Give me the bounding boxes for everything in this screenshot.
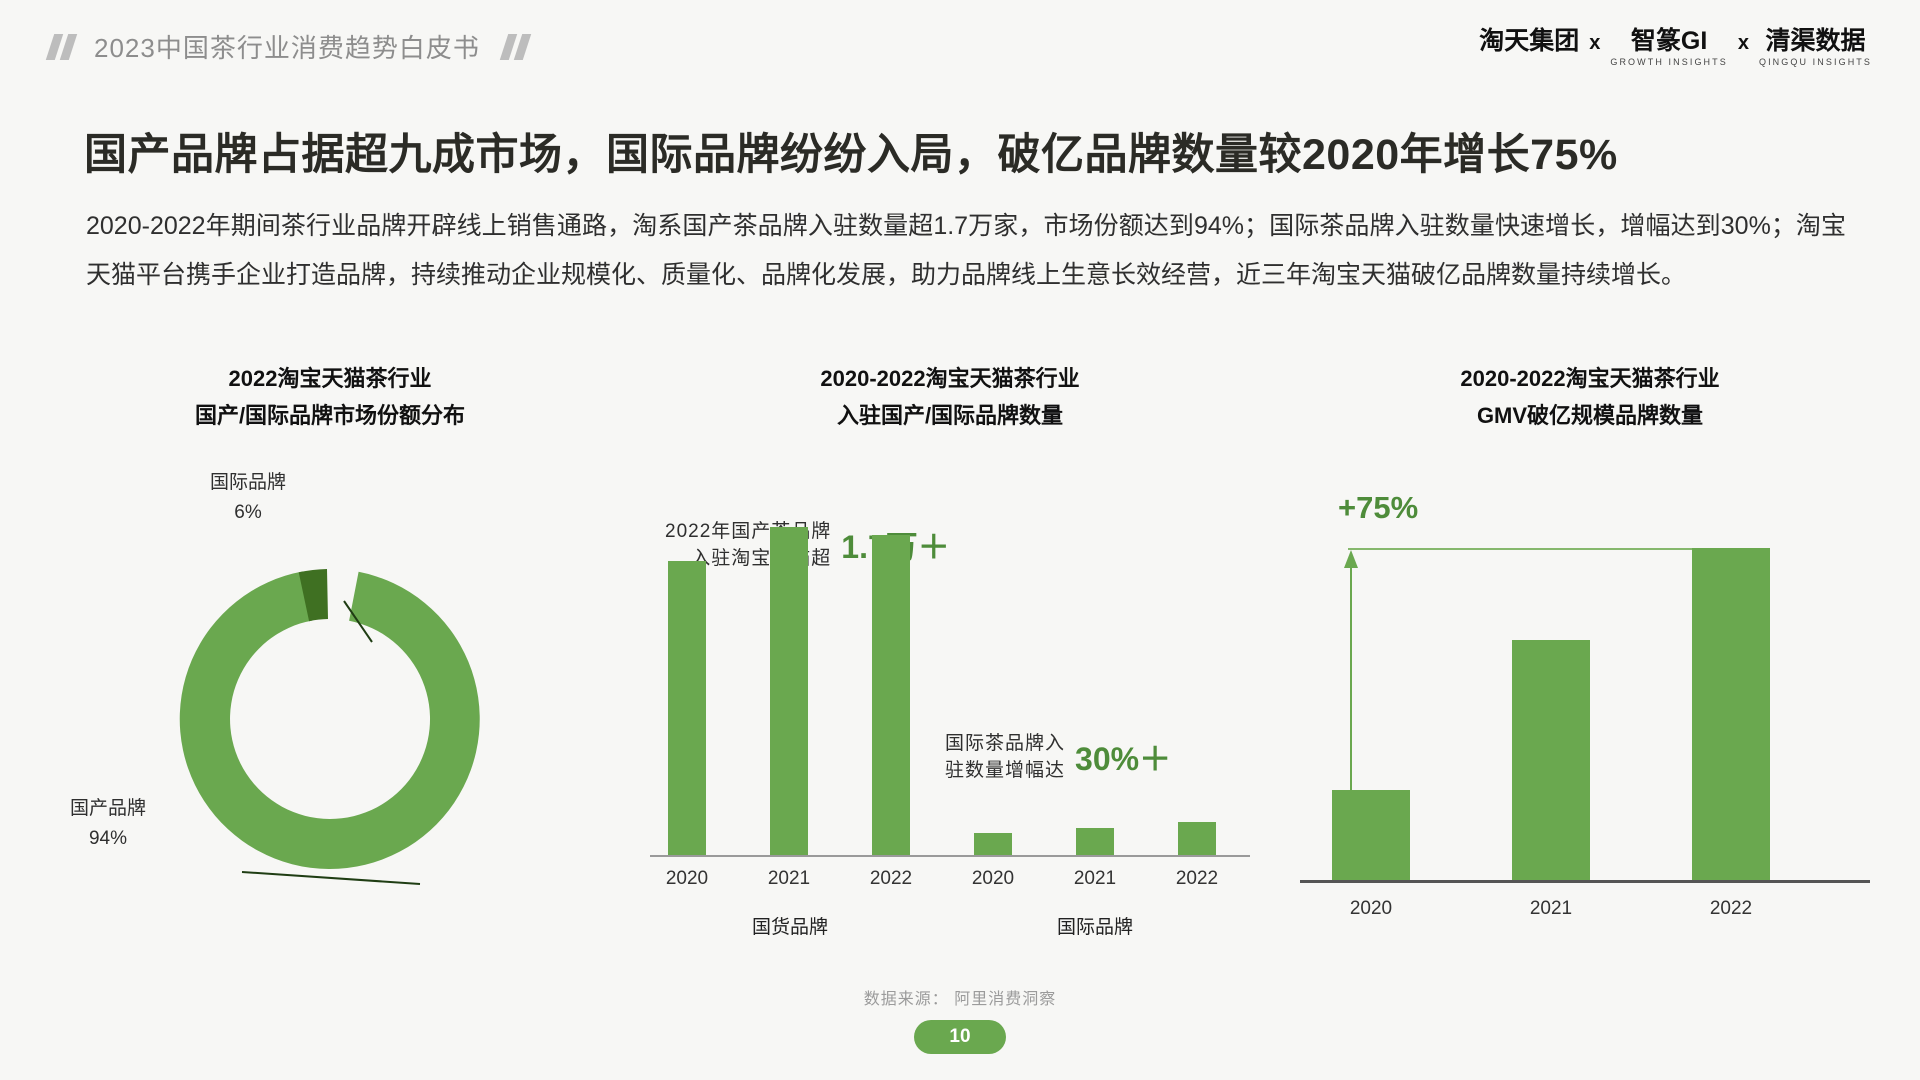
double-slash-left-icon (50, 34, 80, 60)
chart2-title-line1: 2020-2022淘宝天猫茶行业 (640, 360, 1260, 397)
double-slash-right-icon (504, 34, 534, 60)
donut-label-domestic-text: 国产品牌 (70, 794, 146, 824)
logo-gi-en: GROWTH INSIGHTS (1610, 57, 1728, 67)
group-label-international: 国际品牌 (1005, 912, 1185, 939)
page-number-badge: 10 (914, 1020, 1006, 1054)
xtick-international-2022: 2022 (1157, 868, 1237, 890)
donut-label-domestic-value: 94% (70, 824, 146, 854)
bar-domestic-2022 (872, 535, 910, 855)
bar-chart-brand-count: 2022年国产茶品牌 入驻淘宝天猫超 1.7万＋ 国际茶品牌入 驻数量增幅达 3… (640, 460, 1260, 950)
growth-label-75: +75% (1338, 490, 1418, 526)
bar-chart-gmv: +75% 2020 2021 2022 (1290, 460, 1890, 960)
xtick-domestic-2021: 2021 (749, 868, 829, 890)
bar-chart-3-baseline (1300, 880, 1870, 883)
logo-taotian: 淘天集团 (1479, 26, 1579, 57)
chart1-title-line1: 2022淘宝天猫茶行业 (60, 360, 600, 397)
xtick-gmv-2020: 2020 (1321, 898, 1421, 920)
callout-international-line1: 国际茶品牌入 (945, 730, 1065, 757)
chart-panel-gmv: 2020-2022淘宝天猫茶行业 GMV破亿规模品牌数量 +75% 2020 2… (1290, 360, 1890, 960)
bar-chart-2-baseline (650, 855, 1250, 857)
header-doc-title-group: 2023中国茶行业消费趋势白皮书 (50, 28, 534, 65)
logo-gi-cn: 智篆GI (1631, 26, 1707, 56)
chart3-title-line1: 2020-2022淘宝天猫茶行业 (1290, 360, 1890, 397)
bar-gmv-2020 (1332, 790, 1410, 880)
group-label-domestic: 国货品牌 (700, 912, 880, 939)
donut-chart-svg (60, 464, 600, 934)
donut-label-international: 国际品牌 6% (210, 468, 286, 528)
logo-taotian-cn: 淘天集团 (1479, 26, 1579, 56)
logo-gi: 智篆GI GROWTH INSIGHTS (1610, 26, 1728, 67)
donut-chart: 国际品牌 6% 国产品牌 94% (60, 464, 600, 964)
bar-domestic-2021 (770, 527, 808, 855)
logo-qingqu: 清渠数据 QINGQU INSIGHTS (1759, 26, 1872, 67)
xtick-gmv-2022: 2022 (1681, 898, 1781, 920)
chart-panel-brand-count: 2020-2022淘宝天猫茶行业 入驻国产/国际品牌数量 2022年国产茶品牌 … (640, 360, 1260, 950)
donut-label-international-value: 6% (210, 498, 286, 528)
data-source-note: 数据来源： 阿里消费洞察 (0, 985, 1920, 1009)
bar-gmv-2021 (1512, 640, 1590, 880)
bar-international-2022 (1178, 822, 1216, 855)
donut-leader-line-domestic (242, 872, 420, 884)
bar-domestic-2020 (668, 561, 706, 855)
page-title: 国产品牌占据超九成市场，国际品牌纷纷入局，破亿品牌数量较2020年增长75% (84, 120, 1884, 182)
xtick-domestic-2022: 2022 (851, 868, 931, 890)
xtick-international-2020: 2020 (953, 868, 1033, 890)
chart-panel-market-share: 2022淘宝天猫茶行业 国产/国际品牌市场份额分布 国际品牌 6% (60, 360, 600, 964)
donut-label-international-text: 国际品牌 (210, 468, 286, 498)
xtick-gmv-2021: 2021 (1501, 898, 1601, 920)
chart1-title-line2: 国产/国际品牌市场份额分布 (60, 397, 600, 434)
bar-international-2021 (1076, 828, 1114, 855)
document-title: 2023中国茶行业消费趋势白皮书 (94, 28, 480, 65)
donut-label-domestic: 国产品牌 94% (70, 794, 146, 854)
donut-slice-domestic (180, 571, 480, 869)
callout-international-growth: 国际茶品牌入 驻数量增幅达 30%＋ (945, 730, 1171, 784)
logo-qingqu-en: QINGQU INSIGHTS (1759, 57, 1872, 67)
xtick-domestic-2020: 2020 (647, 868, 727, 890)
bar-gmv-2022 (1692, 548, 1770, 880)
brand-logo-group: 淘天集团 x 智篆GI GROWTH INSIGHTS x 清渠数据 QINGQ… (1479, 26, 1872, 67)
chart3-title-line2: GMV破亿规模品牌数量 (1290, 397, 1890, 434)
callout-international-line2: 驻数量增幅达 (945, 757, 1065, 784)
summary-paragraph: 2020-2022年期间茶行业品牌开辟线上销售通路，淘系国产茶品牌入驻数量超1.… (86, 202, 1846, 300)
chart2-title-line2: 入驻国产/国际品牌数量 (640, 397, 1260, 434)
xtick-international-2021: 2021 (1055, 868, 1135, 890)
logo-separator-2: x (1738, 26, 1749, 58)
logo-separator-1: x (1589, 26, 1600, 58)
callout-international-text: 国际茶品牌入 驻数量增幅达 (945, 730, 1065, 784)
callout-international-value: 30%＋ (1075, 734, 1171, 780)
slide-page: 2023中国茶行业消费趋势白皮书 淘天集团 x 智篆GI GROWTH INSI… (0, 0, 1920, 1080)
logo-qingqu-cn: 清渠数据 (1765, 26, 1865, 56)
bar-international-2020 (974, 833, 1012, 855)
page-header: 2023中国茶行业消费趋势白皮书 淘天集团 x 智篆GI GROWTH INSI… (0, 28, 1920, 74)
